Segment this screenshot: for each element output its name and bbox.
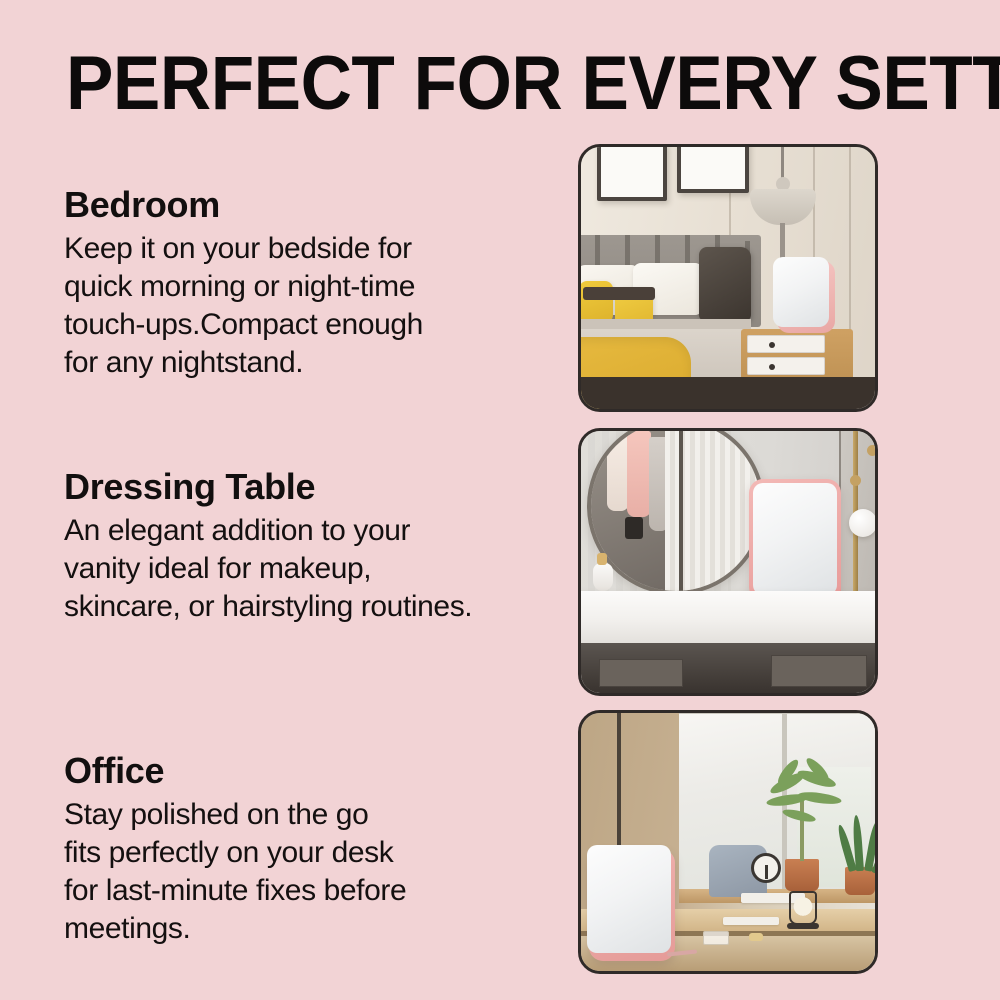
section-office: Office Stay polished on the go fits perf… — [64, 752, 564, 948]
under-desk-panel — [771, 655, 867, 687]
section-heading-office: Office — [64, 752, 564, 790]
vanity-counter — [581, 591, 875, 643]
drawer-knob-icon — [769, 342, 775, 348]
dressing-table-scene — [581, 431, 875, 693]
palm-stem — [800, 799, 804, 861]
mirror-face — [587, 845, 671, 953]
pillow-dark-textured — [699, 247, 751, 321]
wardrobe-edge — [679, 428, 683, 591]
nightstand-drawer — [747, 357, 825, 375]
round-wall-mirror — [587, 428, 765, 595]
gold-knob-icon — [867, 445, 878, 456]
photo-office — [578, 710, 878, 974]
under-desk-panel — [599, 659, 683, 687]
section-heading-dressing-table: Dressing Table — [64, 468, 564, 506]
white-ball-fixture — [849, 509, 877, 537]
wall-frame-icon — [597, 144, 667, 201]
clock-hand — [765, 865, 768, 879]
dark-garment-reflection — [625, 517, 643, 539]
bed-sheet-fold — [578, 319, 751, 329]
desk-trinket — [749, 933, 763, 941]
desk-tray — [703, 931, 729, 945]
section-heading-bedroom: Bedroom — [64, 186, 564, 224]
decor-vase — [593, 563, 613, 591]
clothing-reflection — [627, 431, 651, 517]
desk-notebook — [723, 917, 779, 925]
wall-frame-icon — [677, 144, 749, 193]
clothing-reflection — [607, 433, 629, 511]
desk-cage-lamp — [789, 891, 817, 925]
gold-knob-icon — [850, 475, 861, 486]
section-body-office: Stay polished on the go fits perfectly o… — [64, 796, 564, 948]
bedroom-scene — [581, 147, 875, 409]
drawer-knob-icon — [769, 364, 775, 370]
lamp-base — [787, 923, 819, 929]
photo-dressing-table — [578, 428, 878, 696]
infographic-page: PERFECT FOR EVERY SETTING Bedroom Keep i… — [0, 0, 1000, 1000]
photo-bedroom — [578, 144, 878, 412]
vase-gold-top — [597, 553, 607, 565]
section-dressing-table: Dressing Table An elegant addition to yo… — [64, 468, 564, 626]
mirror-face — [753, 483, 837, 595]
office-scene — [581, 713, 875, 971]
nightstand-drawer — [747, 335, 825, 353]
pendant-lamp-cord — [781, 144, 784, 179]
mirror-face — [773, 257, 829, 327]
plant-pot-palm — [785, 859, 819, 891]
section-bedroom: Bedroom Keep it on your bedside for quic… — [64, 186, 564, 382]
window-mullion — [679, 710, 875, 714]
section-body-bedroom: Keep it on your bedside for quick mornin… — [64, 230, 564, 382]
page-title: PERFECT FOR EVERY SETTING — [66, 46, 889, 122]
bedroom-floor — [581, 377, 875, 409]
section-body-dressing-table: An elegant addition to your vanity ideal… — [64, 512, 564, 626]
pillow-stripe — [583, 287, 655, 300]
